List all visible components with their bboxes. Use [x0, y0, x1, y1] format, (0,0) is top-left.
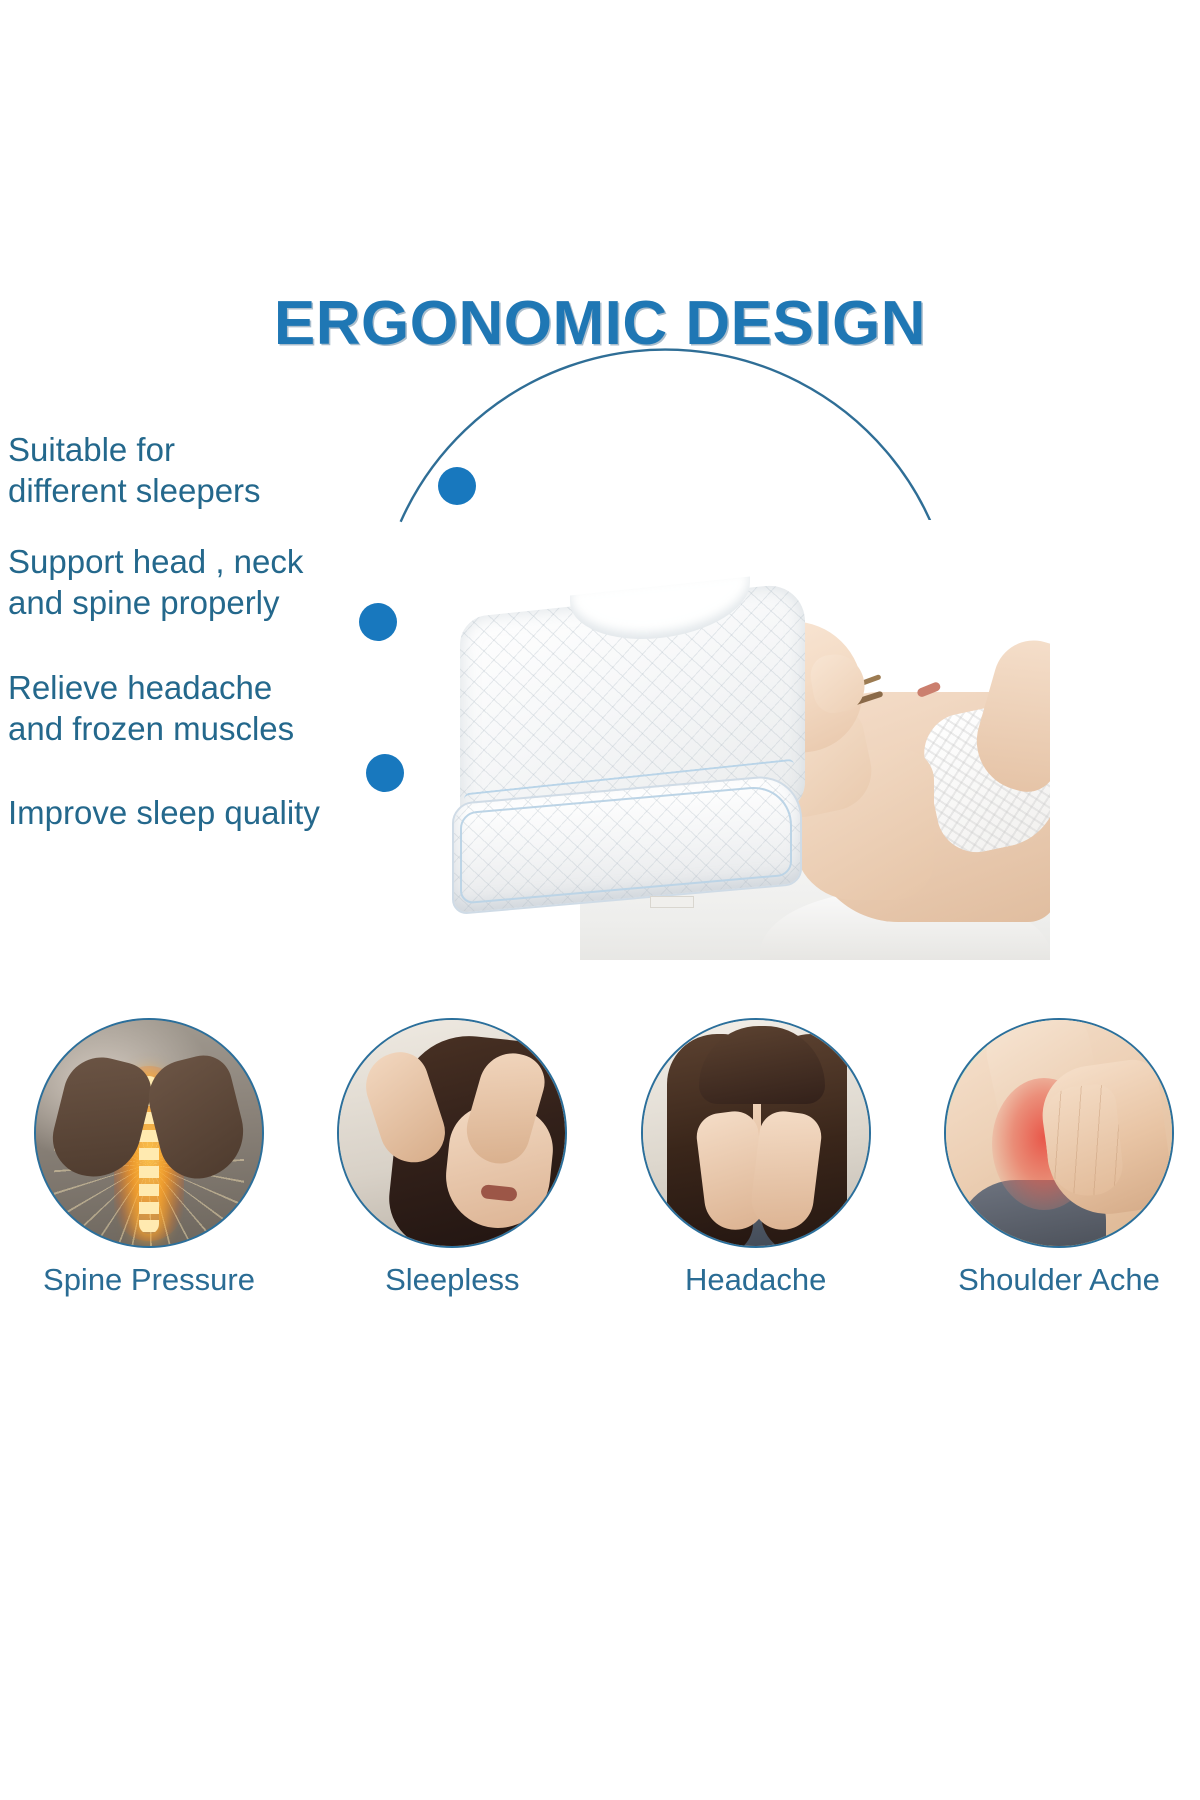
- symptom-image-spine-pressure: [34, 1018, 264, 1248]
- symptom-caption-spine-pressure: Spine Pressure: [43, 1262, 255, 1298]
- symptom-headache: Headache: [631, 1018, 881, 1298]
- symptom-shoulder-ache: Shoulder Ache: [934, 1018, 1184, 1298]
- symptom-caption-shoulder-ache: Shoulder Ache: [958, 1262, 1160, 1298]
- symptoms-row: Spine Pressure Sleepless: [24, 1018, 1184, 1328]
- symptom-caption-headache: Headache: [685, 1262, 826, 1298]
- symptom-sleepless: Sleepless: [327, 1018, 577, 1298]
- infographic-page: ERGONOMIC DESIGN Suitable for different …: [0, 0, 1200, 1800]
- benefit-item-support-spine: Support head , neck and spine properly: [8, 542, 408, 624]
- memory-foam-pillow: [450, 600, 810, 910]
- benefit-item-suitable-sleepers: Suitable for different sleepers: [8, 430, 408, 512]
- symptom-image-sleepless: [337, 1018, 567, 1248]
- page-title: ERGONOMIC DESIGN: [0, 288, 1200, 359]
- symptom-image-headache: [641, 1018, 871, 1248]
- symptom-caption-sleepless: Sleepless: [385, 1262, 519, 1298]
- hero-product-image: [430, 520, 1050, 960]
- pillow-label-tag: [650, 896, 694, 908]
- benefits-list: Suitable for different sleepers Support …: [8, 430, 408, 862]
- benefit-item-relieve-headache: Relieve headache and frozen muscles: [8, 668, 408, 750]
- arc-dot-1: [438, 467, 476, 505]
- benefit-item-improve-sleep: Improve sleep quality: [8, 793, 408, 834]
- symptom-spine-pressure: Spine Pressure: [24, 1018, 274, 1298]
- symptom-image-shoulder-ache: [944, 1018, 1174, 1248]
